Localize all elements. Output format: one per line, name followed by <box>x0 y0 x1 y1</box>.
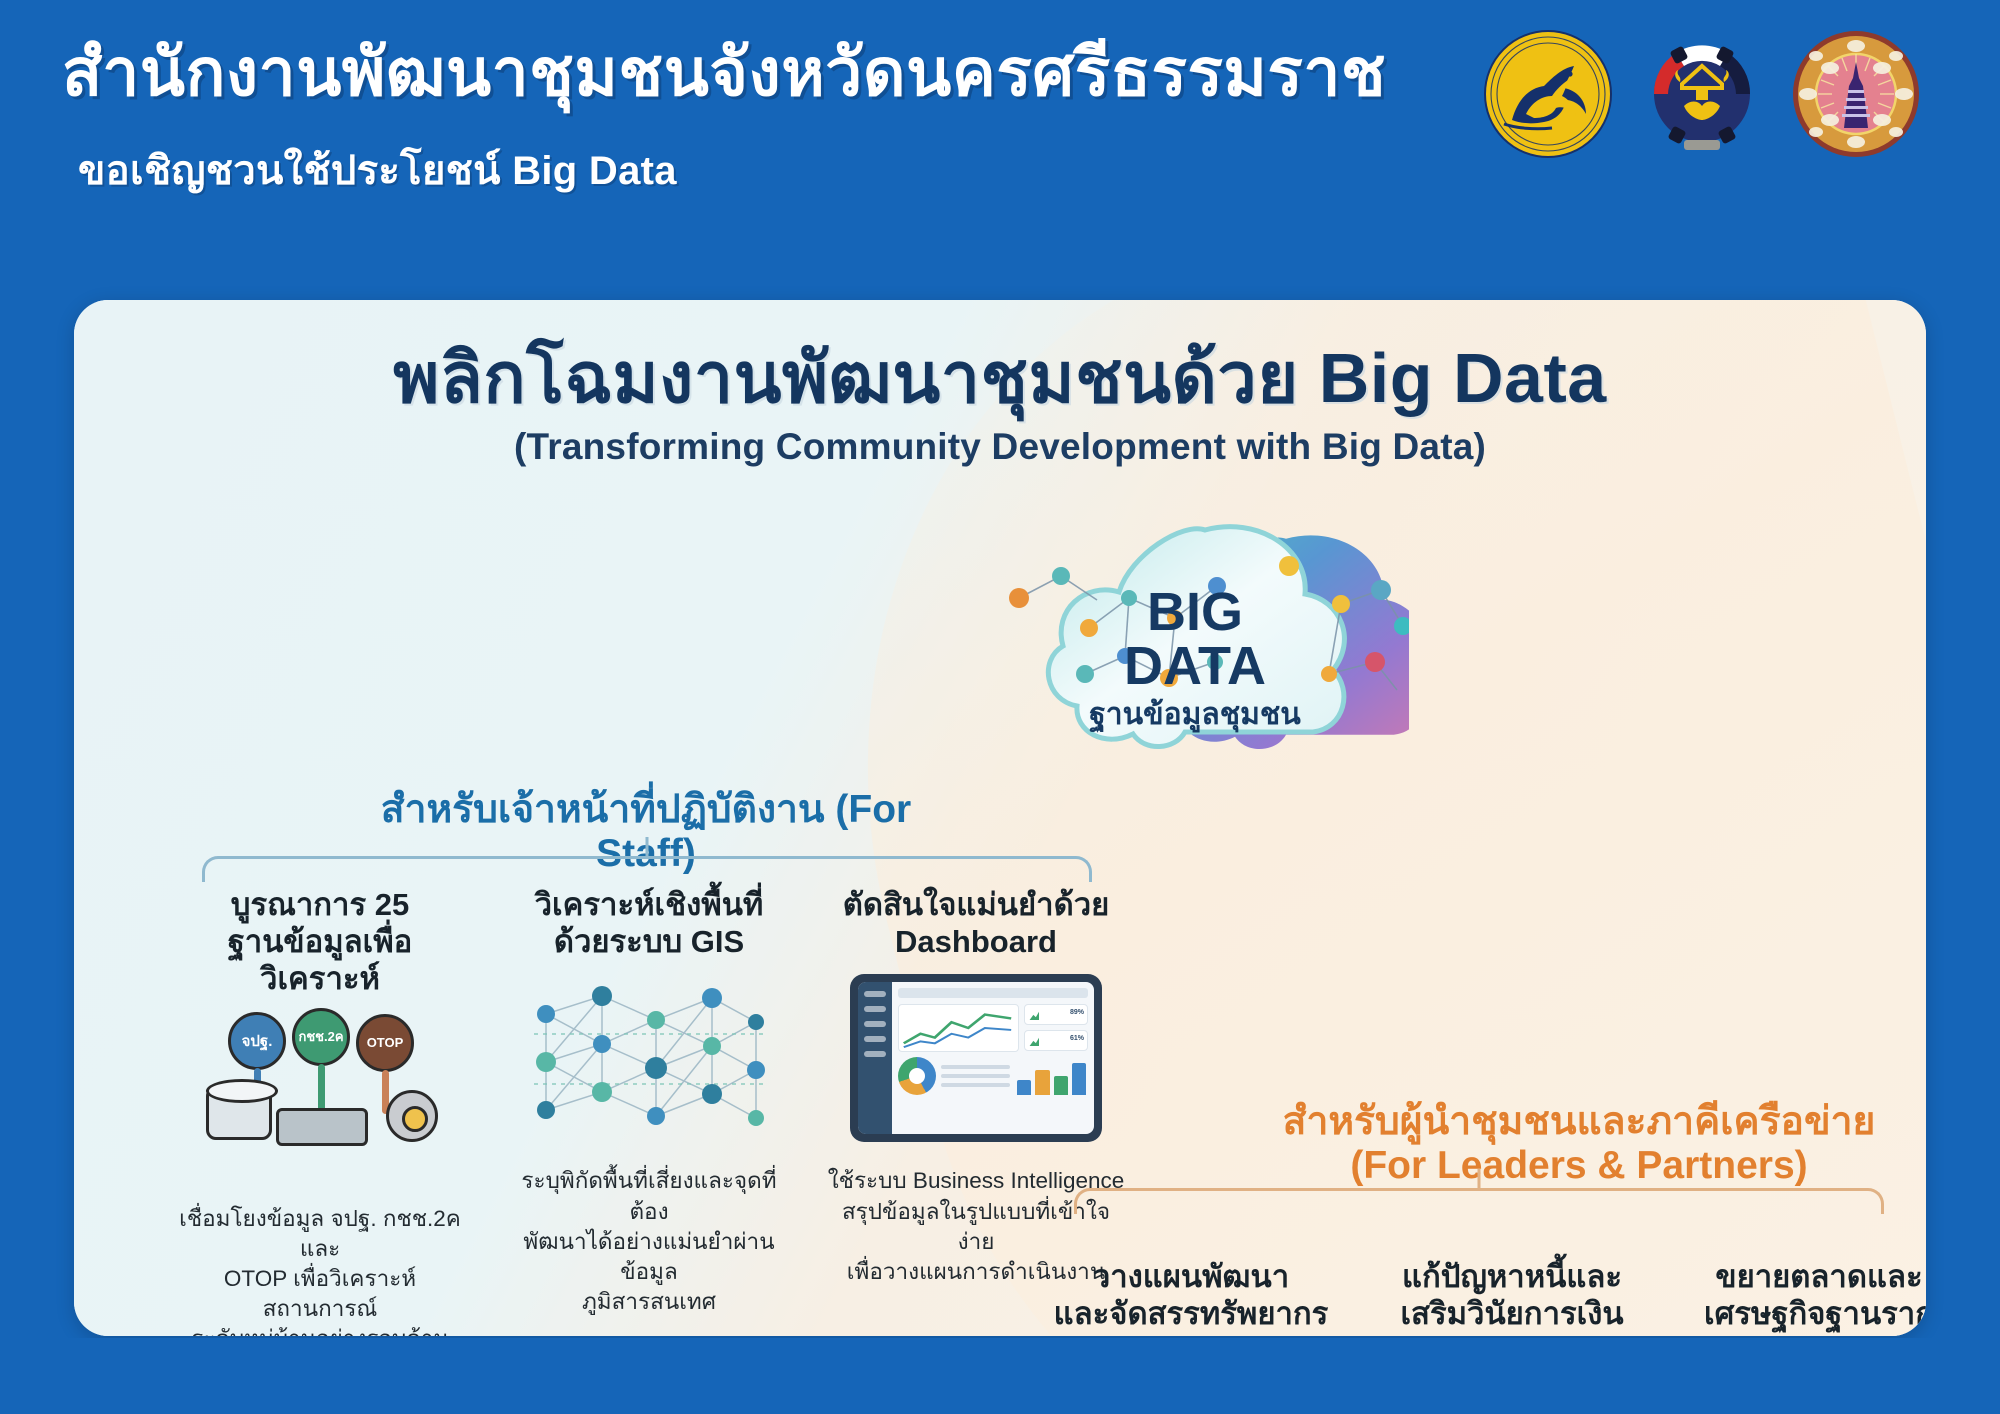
dashboard-row-bottom <box>898 1057 1088 1095</box>
cloud-text-big: BIG <box>1147 582 1243 642</box>
organization-title: สำนักงานพัฒนาชุมชนจังหวัดนครศรีธรรมราช <box>62 36 1386 109</box>
dashboard-content: 89% 61% <box>892 982 1094 1134</box>
leaders-bracket-connector <box>1074 1188 1884 1214</box>
gear-icon <box>386 1090 438 1142</box>
column-heading: บูรณาการ 25 ฐานข้อมูลเพื่อวิเคราะห์ <box>170 886 470 998</box>
bar <box>1035 1070 1049 1096</box>
column-caption: ระบุพิกัดพื้นที่เสี่ยงและจุดที่ต้อง พัฒน… <box>504 1166 794 1317</box>
tablet-frame: 89% 61% <box>850 974 1102 1142</box>
list-line <box>941 1083 1010 1087</box>
leaders-column-market-economy: ขยายตลาดและ เศรษฐกิจฐานราก STOP <box>1664 1258 1926 1336</box>
page-header: สำนักงานพัฒนาชุมชนจังหวัดนครศรีธรรมราช ข… <box>0 0 2000 252</box>
cloud-text-data: DATA <box>1124 636 1266 696</box>
list-line <box>941 1065 1010 1069</box>
badge-kchch2k: กชช.2ค <box>292 1008 350 1066</box>
sidebar-line <box>864 1006 886 1012</box>
dashboard-sidebar <box>858 982 892 1134</box>
big-data-cloud-illustration: BIG DATA ฐานข้อมูลชุมชน <box>989 478 1409 788</box>
leaders-section-heading: สำหรับผู้นำชุมชนและภาคีเครือข่าย (For Le… <box>1229 1100 1926 1187</box>
staff-column-gis-analysis: วิเคราะห์เชิงพื้นที่ ด้วยระบบ GIS <box>504 886 794 1317</box>
list-line <box>941 1074 1010 1078</box>
column-heading: วางแผนพัฒนา และจัดสรรทรัพยากร <box>1036 1258 1346 1332</box>
trend-up-icon <box>1029 1010 1039 1020</box>
poster-title-block: พลิกโฉมงานพัฒนาชุมชนด้วย Big Data (Trans… <box>74 342 1926 468</box>
column-heading: วิเคราะห์เชิงพื้นที่ ด้วยระบบ GIS <box>504 886 794 960</box>
column-heading: ขยายตลาดและ เศรษฐกิจฐานราก <box>1664 1258 1926 1332</box>
poster-subtitle: (Transforming Community Development with… <box>74 426 1926 468</box>
database-integration-illustration: จปฐ. กชช.2ค OTOP <box>200 1012 440 1180</box>
leaders-heading-line2: (For Leaders & Partners) <box>1229 1144 1926 1188</box>
kpi-widget: 89% <box>1024 1004 1088 1025</box>
dashboard-row-top: 89% 61% <box>898 1004 1088 1052</box>
leaders-column-debt-finance: แก้ปัญหาหนี้และ เสริมวินัยการเงิน ฿ <box>1362 1258 1662 1336</box>
cloud-text-thai: ฐานข้อมูลชุมชน <box>1089 698 1301 734</box>
leaders-heading-line1: สำหรับผู้นำชุมชนและภาคีเครือข่าย <box>1283 1100 1876 1143</box>
badge-otop: OTOP <box>356 1014 414 1072</box>
column-heading: ตัดสินใจแม่นยำด้วย Dashboard <box>826 886 1126 960</box>
database-cylinder-icon <box>206 1086 272 1140</box>
sidebar-line <box>864 991 886 997</box>
bar <box>1072 1063 1086 1095</box>
gis-network-illustration <box>524 974 774 1142</box>
organization-subtitle: ขอเชิญชวนใช้ประโยชน์ Big Data <box>78 138 677 202</box>
dashboard-tablet-illustration: 89% 61% <box>850 974 1102 1142</box>
kpi-value: 61% <box>1070 1035 1084 1042</box>
dashboard-topbar <box>898 988 1088 998</box>
bracket-stem <box>1478 1169 1481 1191</box>
nakhon-si-thammarat-emblem-icon <box>1790 28 1922 160</box>
kpi-widget: 61% <box>1024 1030 1088 1051</box>
server-box-icon <box>276 1108 368 1146</box>
line-chart-widget <box>898 1004 1019 1052</box>
staff-bracket-connector <box>202 856 1092 882</box>
staff-column-database-integration: บูรณาการ 25 ฐานข้อมูลเพื่อวิเคราะห์ จปฐ.… <box>170 886 470 1336</box>
singha-lion-emblem-icon <box>1482 28 1614 160</box>
trend-up-icon <box>1029 1036 1039 1046</box>
bracket-stem <box>646 837 649 859</box>
cdd-emblem-icon <box>1636 28 1768 160</box>
leaders-column-planning: วางแผนพัฒนา และจัดสรรทรัพยากร <box>1036 1258 1346 1336</box>
wire-green <box>318 1064 325 1114</box>
sidebar-line <box>864 1036 886 1042</box>
kpi-value: 89% <box>1070 1009 1084 1016</box>
sidebar-line <box>864 1021 886 1027</box>
column-heading: แก้ปัญหาหนี้และ เสริมวินัยการเงิน <box>1362 1258 1662 1332</box>
footer-strip <box>0 1338 2000 1414</box>
poster-title: พลิกโฉมงานพัฒนาชุมชนด้วย Big Data <box>74 342 1926 416</box>
bar-chart-widget <box>1015 1057 1088 1095</box>
bar <box>1054 1076 1068 1096</box>
badge-jpt: จปฐ. <box>228 1012 286 1070</box>
emblem-group <box>1482 28 1922 160</box>
bar <box>1017 1080 1031 1095</box>
sidebar-line <box>864 1051 886 1057</box>
tablet-screen: 89% 61% <box>858 982 1094 1134</box>
infographic-card: พลิกโฉมงานพัฒนาชุมชนด้วย Big Data (Trans… <box>74 300 1926 1336</box>
kpi-group: 89% 61% <box>1024 1004 1088 1052</box>
list-widget <box>941 1057 1010 1095</box>
donut-chart-widget <box>898 1057 936 1095</box>
staff-column-dashboard: ตัดสินใจแม่นยำด้วย Dashboard <box>826 886 1126 1287</box>
column-caption: เชื่อมโยงข้อมูล จปฐ. กชช.2ค และ OTOP เพื… <box>170 1204 470 1336</box>
